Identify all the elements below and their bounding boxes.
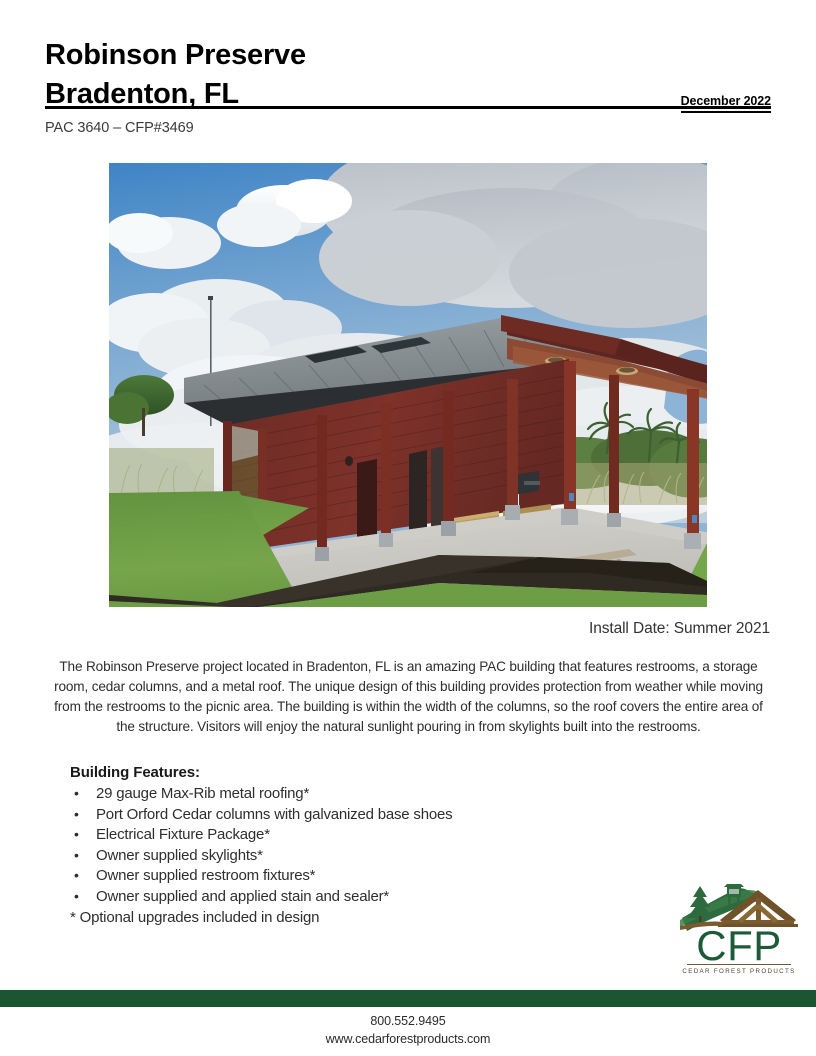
footer-contact: 800.552.9495 www.cedarforestproducts.com <box>0 1012 816 1048</box>
building-features-section: Building Features: • 29 gauge Max-Rib me… <box>70 764 670 929</box>
feature-label: Owner supplied and applied stain and sea… <box>96 887 389 908</box>
logo-tagline: CEDAR FOREST PRODUCTS <box>682 968 795 975</box>
footer-website[interactable]: www.cedarforestproducts.com <box>0 1030 816 1048</box>
project-photo <box>109 163 707 607</box>
document-header: Robinson Preserve Bradenton, FL December… <box>45 36 771 113</box>
bullet-icon: • <box>70 887 96 906</box>
feature-label: Owner supplied restroom fixtures* <box>96 866 315 887</box>
logo-monogram: CFP <box>696 922 782 969</box>
feature-item: • Electrical Fixture Package* <box>70 825 670 846</box>
document-date: December 2022 <box>681 94 771 113</box>
feature-item: • Port Orford Cedar columns with galvani… <box>70 805 670 826</box>
feature-item: • Owner supplied restroom fixtures* <box>70 866 670 887</box>
page-title-line1: Robinson Preserve <box>45 36 771 75</box>
cfp-logo: CFP CEDAR FOREST PRODUCTS <box>678 876 800 976</box>
bullet-icon: • <box>70 866 96 885</box>
feature-label: Port Orford Cedar columns with galvanize… <box>96 805 452 826</box>
feature-label: 29 gauge Max-Rib metal roofing* <box>96 784 309 805</box>
feature-label: Electrical Fixture Package* <box>96 825 270 846</box>
features-footnote: * Optional upgrades included in design <box>70 908 670 929</box>
bullet-icon: • <box>70 846 96 865</box>
project-description: The Robinson Preserve project located in… <box>45 657 772 737</box>
footer-green-bar <box>0 990 816 1007</box>
feature-item: • Owner supplied skylights* <box>70 846 670 867</box>
feature-item: • Owner supplied and applied stain and s… <box>70 887 670 908</box>
header-divider <box>45 106 771 109</box>
project-code: PAC 3640 – CFP#3469 <box>45 120 194 136</box>
features-heading: Building Features: <box>70 764 670 781</box>
feature-item: • 29 gauge Max-Rib metal roofing* <box>70 784 670 805</box>
bullet-icon: • <box>70 825 96 844</box>
footer-phone: 800.552.9495 <box>0 1012 816 1030</box>
install-date-caption: Install Date: Summer 2021 <box>589 620 770 638</box>
bullet-icon: • <box>70 784 96 803</box>
bullet-icon: • <box>70 805 96 824</box>
feature-label: Owner supplied skylights* <box>96 846 263 867</box>
